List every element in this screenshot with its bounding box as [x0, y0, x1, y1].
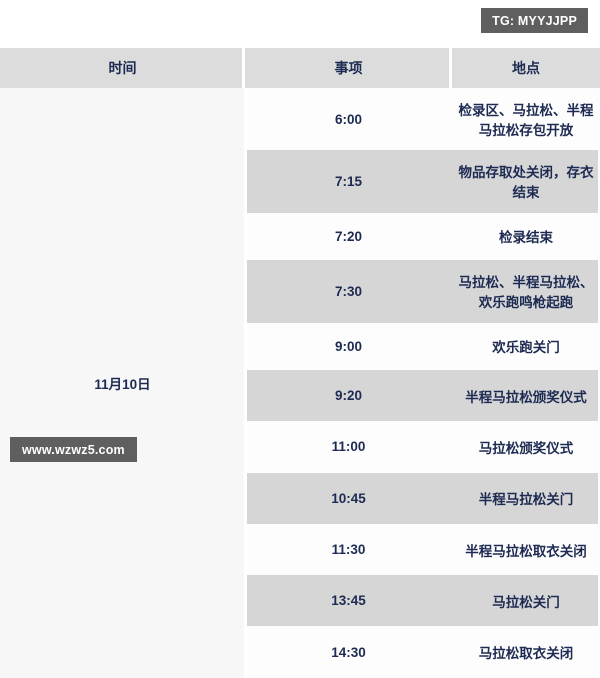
column-header-time: 时间 — [0, 48, 245, 88]
cell-time: 9:20 — [245, 370, 452, 421]
event-schedule-table: 时间 事项 地点 11月10日6:00检录区、马拉松、半程马拉松存包开放五岭广场… — [0, 48, 600, 678]
cell-time: 11:30 — [245, 524, 452, 575]
cell-event: 检录结束 — [452, 213, 600, 261]
cell-event: 半程马拉松关门 — [452, 473, 600, 524]
cell-event: 欢乐跑关门 — [452, 323, 600, 371]
cell-time: 6:00 — [245, 88, 452, 150]
table-body: 11月10日6:00检录区、马拉松、半程马拉松存包开放五岭广场(起点、欢乐跑终点… — [0, 88, 600, 678]
column-header-event: 事项 — [245, 48, 452, 88]
cell-time: 13:45 — [245, 575, 452, 626]
cell-date: 11月10日 — [0, 88, 245, 678]
cell-time: 7:15 — [245, 150, 452, 212]
cell-event: 马拉松取衣关闭 — [452, 626, 600, 677]
cell-event: 检录区、马拉松、半程马拉松存包开放 — [452, 88, 600, 150]
schedule-table-container: 时间 事项 地点 11月10日6:00检录区、马拉松、半程马拉松存包开放五岭广场… — [0, 48, 600, 678]
cell-event: 马拉松、半程马拉松、欢乐跑鸣枪起跑 — [452, 260, 600, 322]
telegram-watermark-badge: TG: MYYJJPP — [481, 8, 588, 33]
website-watermark-badge: www.wzwz5.com — [10, 437, 137, 462]
cell-event: 马拉松颁奖仪式 — [452, 421, 600, 472]
cell-event: 物品存取处关闭，存衣结束 — [452, 150, 600, 212]
column-header-place: 地点 — [452, 48, 600, 88]
cell-time: 9:00 — [245, 323, 452, 371]
cell-time: 7:30 — [245, 260, 452, 322]
cell-time: 7:20 — [245, 213, 452, 261]
cell-time: 10:45 — [245, 473, 452, 524]
cell-event: 半程马拉松颁奖仪式 — [452, 370, 600, 421]
cell-event: 马拉松关门 — [452, 575, 600, 626]
table-header: 时间 事项 地点 — [0, 48, 600, 88]
table-row: 11月10日6:00检录区、马拉松、半程马拉松存包开放五岭广场(起点、欢乐跑终点… — [0, 88, 600, 150]
header-row: 时间 事项 地点 — [0, 48, 600, 88]
cell-time: 11:00 — [245, 421, 452, 472]
cell-time: 14:30 — [245, 626, 452, 677]
cell-event: 半程马拉松取衣关闭 — [452, 524, 600, 575]
